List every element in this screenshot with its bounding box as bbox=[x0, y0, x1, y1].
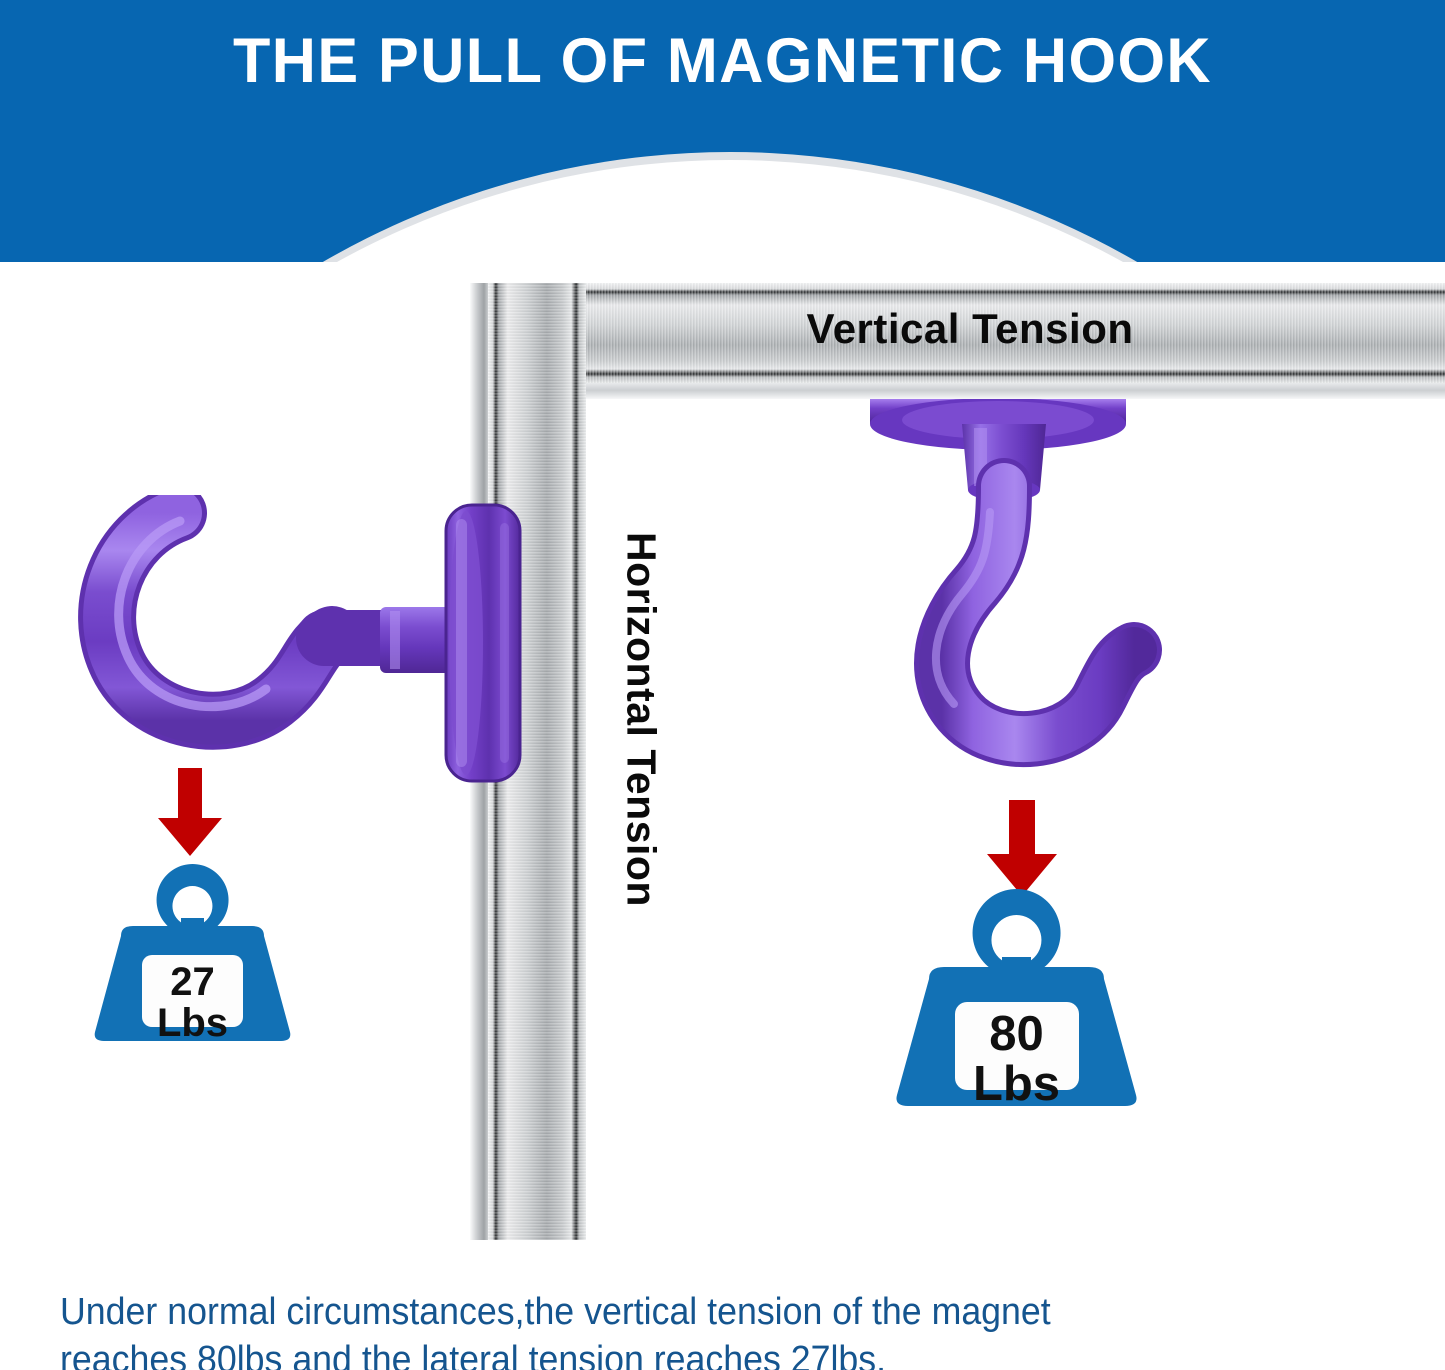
magnetic-hook-side-icon bbox=[60, 495, 530, 795]
vertical-tension-label: Vertical Tension bbox=[600, 305, 1340, 353]
caption-line-2: reaches 80lbs and the lateral tension re… bbox=[60, 1336, 1310, 1370]
weight-label-left: 27 Lbs bbox=[85, 962, 300, 1044]
caption-text: Under normal circumstances,the vertical … bbox=[60, 1288, 1310, 1370]
page-title: THE PULL OF MAGNETIC HOOK bbox=[22, 28, 1424, 94]
magnetic-hook-hanging-icon bbox=[850, 362, 1190, 812]
down-arrow-icon bbox=[152, 768, 228, 856]
down-arrow-icon bbox=[980, 800, 1064, 896]
weight-unit-right: Lbs bbox=[973, 1057, 1060, 1111]
weight-value-left: 27 bbox=[170, 960, 215, 1004]
caption-line-1: Under normal circumstances,the vertical … bbox=[60, 1288, 1310, 1336]
header-swoosh bbox=[0, 160, 1445, 262]
infographic-page: THE PULL OF MAGNETIC HOOK Vertical Tensi… bbox=[0, 0, 1445, 1370]
weight-unit-left: Lbs bbox=[157, 1001, 228, 1045]
horizontal-tension-label: Horizontal Tension bbox=[618, 490, 665, 950]
horizontal-bar-underside bbox=[488, 383, 1445, 399]
weight-value-right: 80 bbox=[989, 1007, 1044, 1061]
weight-label-right: 80 Lbs bbox=[885, 1010, 1148, 1110]
